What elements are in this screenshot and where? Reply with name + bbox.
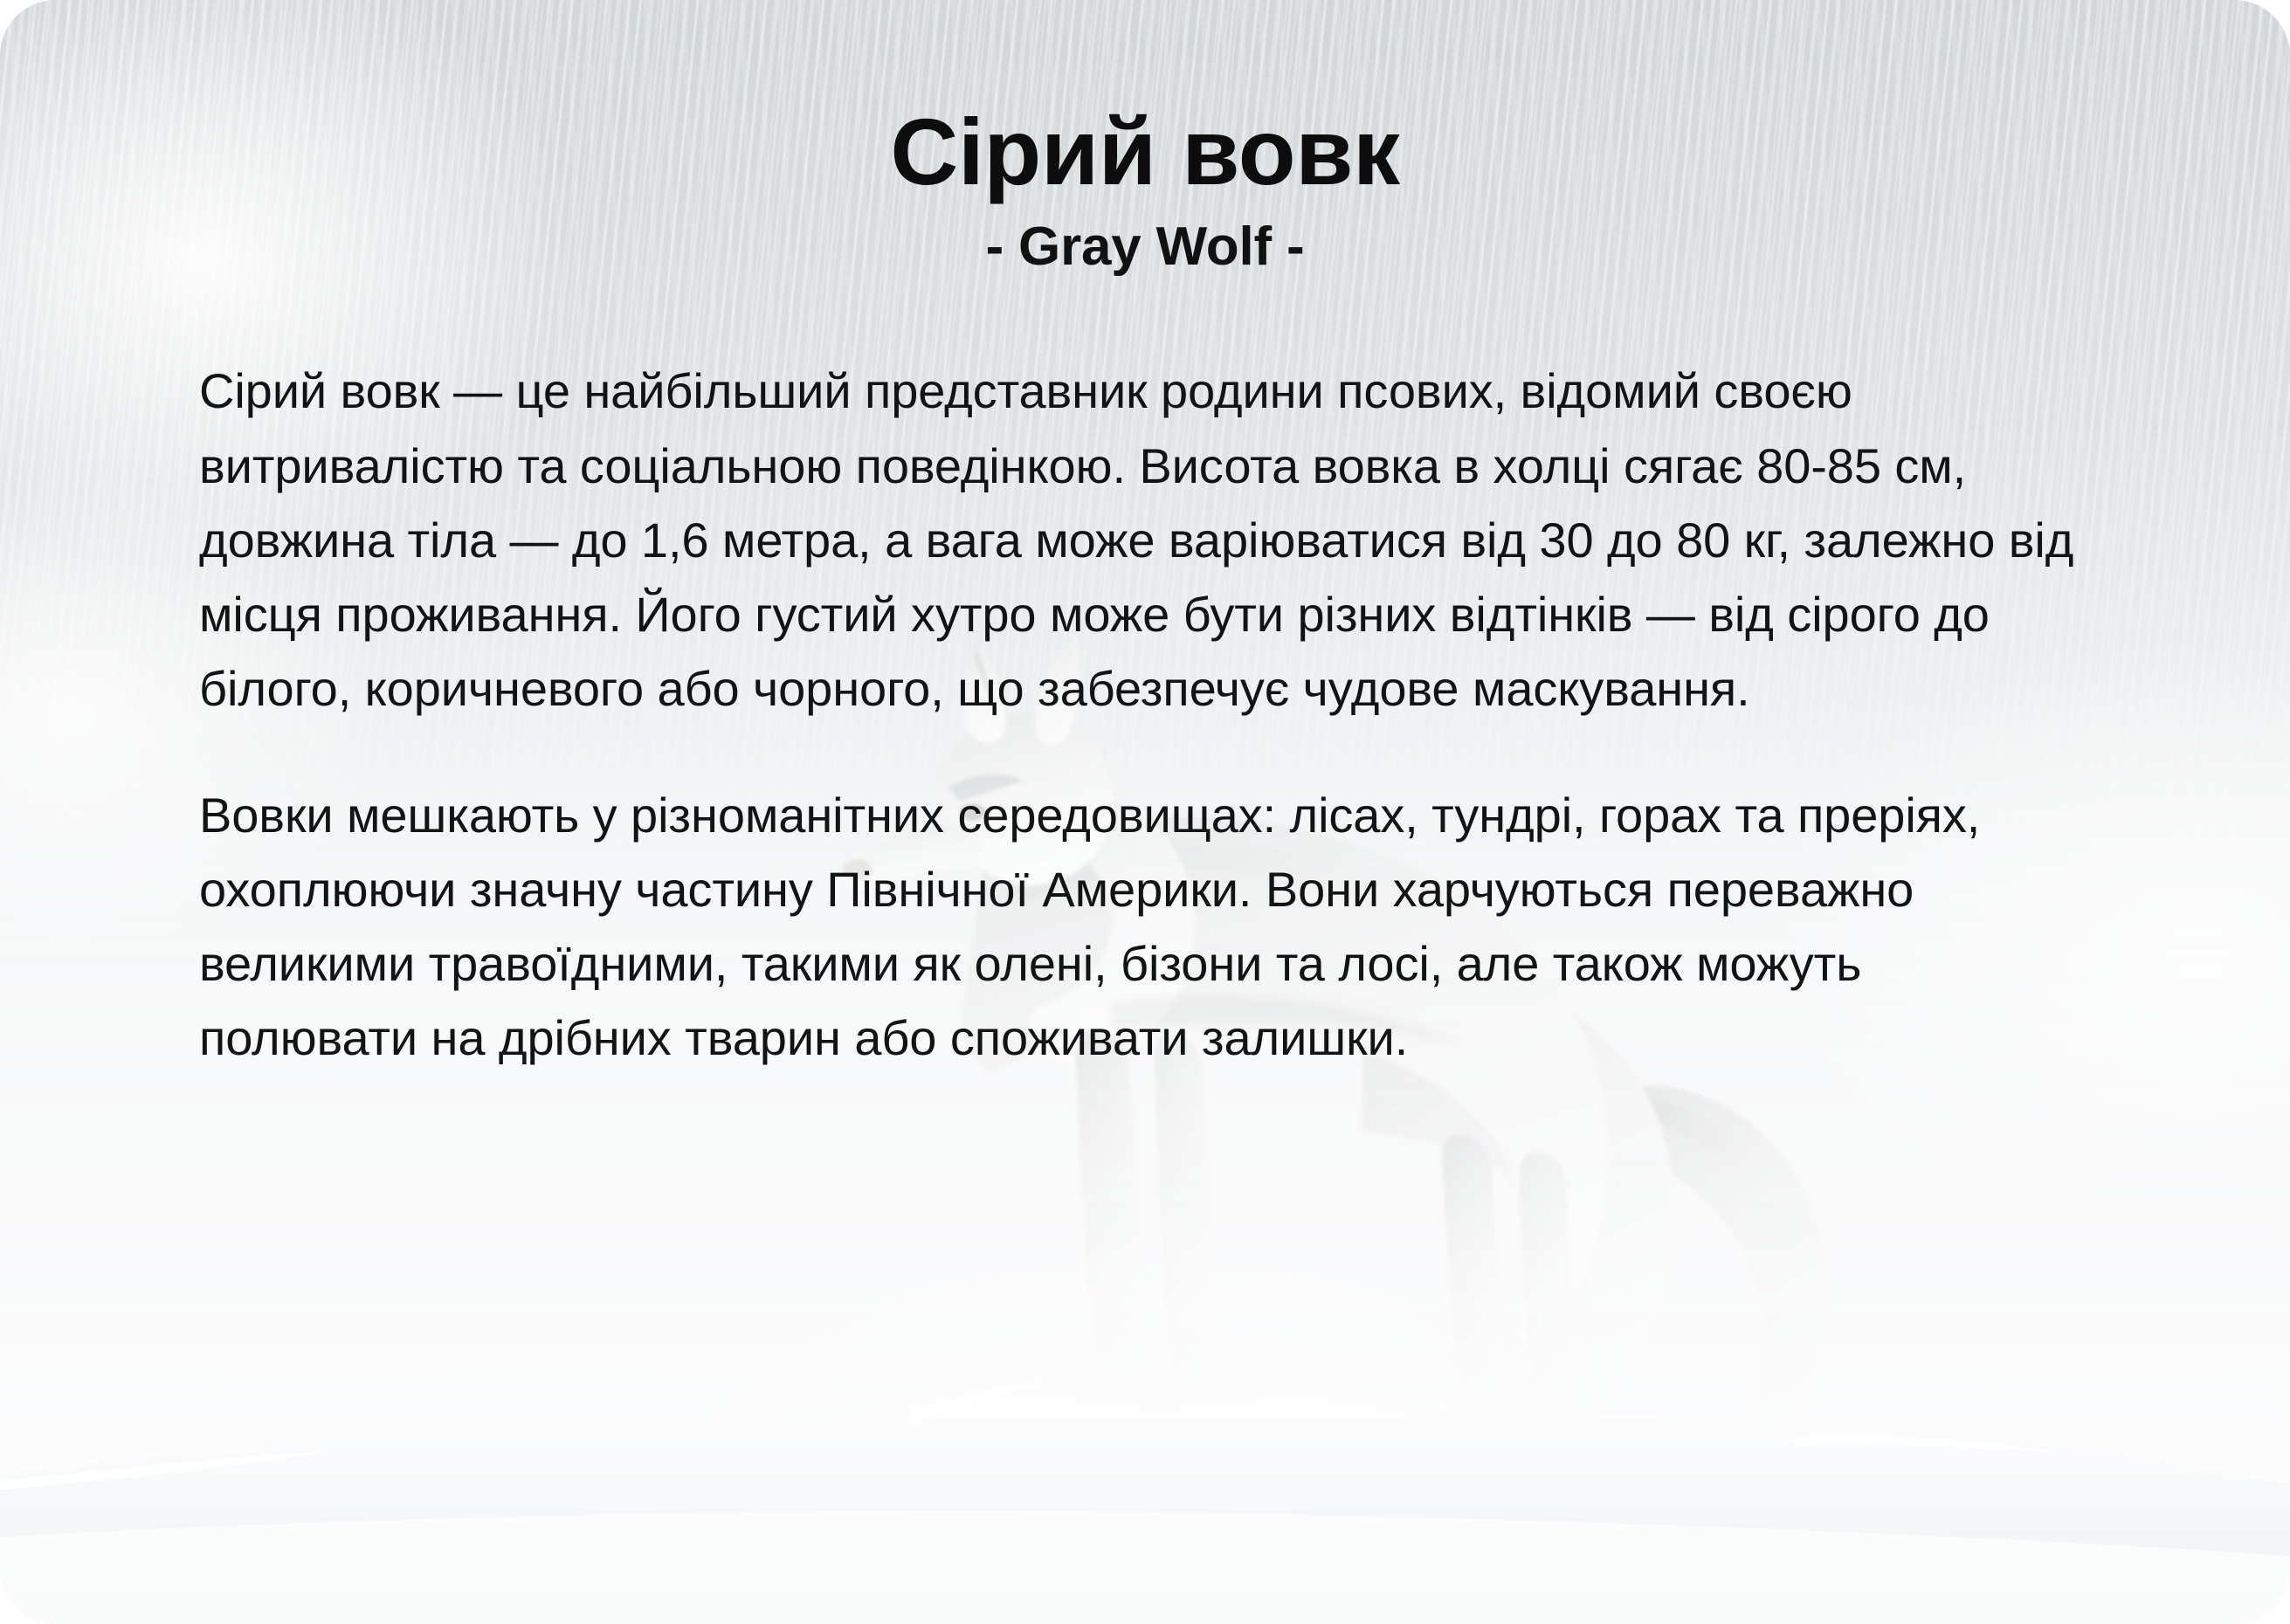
paragraph-habitat: Вовки мешкають у різноманітних середовищ… bbox=[199, 778, 2091, 1075]
card-header: Сірий вовк - Gray Wolf - bbox=[0, 0, 2290, 275]
article-body: Сірий вовк — це найбільший представник р… bbox=[0, 354, 2290, 1075]
wolf-info-card: Сірий вовк - Gray Wolf - Сірий вовк — це… bbox=[0, 0, 2290, 1624]
paragraph-description: Сірий вовк — це найбільший представник р… bbox=[199, 354, 2091, 726]
page-subtitle: - Gray Wolf - bbox=[0, 218, 2290, 275]
card-content: Сірий вовк - Gray Wolf - Сірий вовк — це… bbox=[0, 0, 2290, 1624]
page-title: Сірий вовк bbox=[0, 103, 2290, 201]
